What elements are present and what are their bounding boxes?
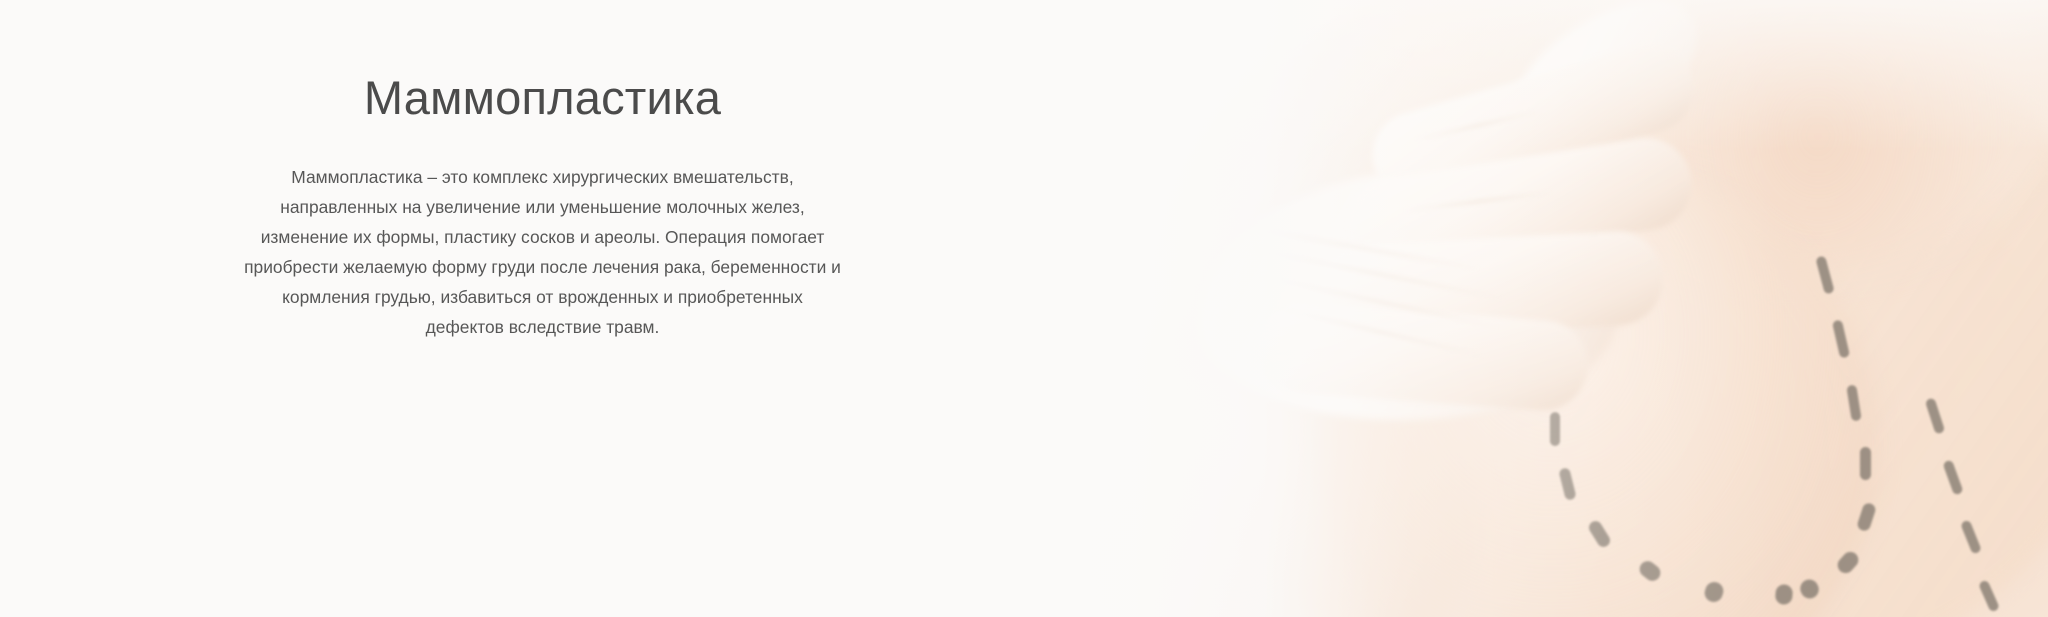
marking-dash: [1636, 558, 1663, 584]
marking-dash: [1702, 580, 1725, 605]
hero-banner: Маммопластика Маммопластика – это компле…: [0, 0, 2048, 617]
hero-description: Маммопластика – это комплекс хирургическ…: [228, 163, 858, 343]
hero-text-block: Маммопластика Маммопластика – это компле…: [0, 0, 1085, 617]
marking-dash: [1860, 447, 1871, 480]
marking-dash: [1834, 549, 1861, 577]
marking-dash: [1832, 319, 1850, 358]
marking-dash: [1550, 412, 1560, 446]
marking-dash: [1942, 459, 1963, 495]
marking-dash: [1558, 467, 1576, 501]
marking-dash: [1587, 519, 1613, 550]
marking-dash: [1925, 397, 1946, 434]
marking-dash: [1815, 255, 1834, 294]
page-title: Маммопластика: [364, 70, 721, 125]
marking-dash: [1846, 384, 1862, 421]
marking-dash: [1797, 577, 1822, 602]
hero-photo: [988, 0, 2048, 617]
marking-dash: [1856, 502, 1877, 533]
marking-dash: [1978, 579, 2000, 612]
marking-dash: [1775, 584, 1793, 605]
marking-dash: [1960, 519, 1982, 554]
latex-glove-hand: [1198, 50, 1718, 410]
